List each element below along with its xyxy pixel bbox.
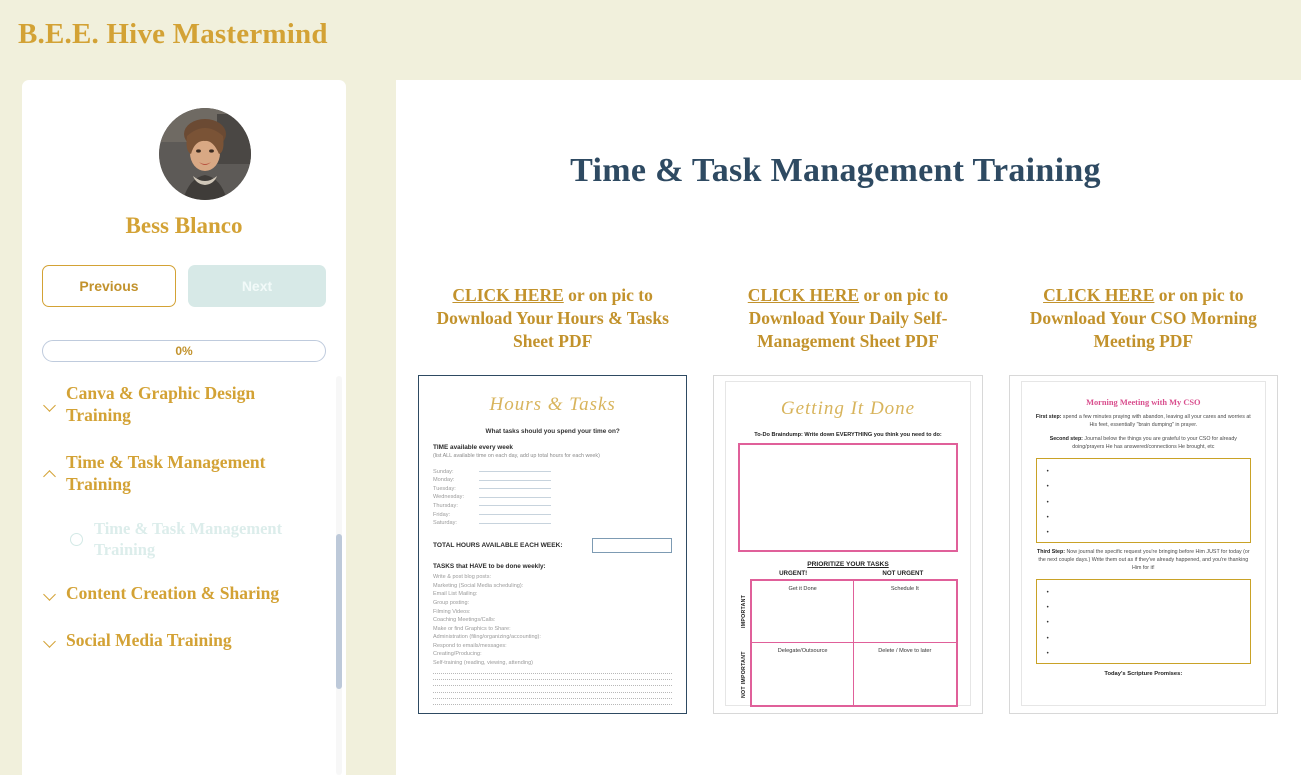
page-title: Time & Task Management Training [396,152,1275,190]
blank-line [433,698,672,699]
day-label: Monday: [433,477,479,483]
day-row: Saturday: [433,519,672,528]
matrix-col-header: NOT URGENT [848,570,958,579]
day-label: Tuesday: [433,486,479,492]
sheet-getting-it-done: Getting It Done To-Do Braindump: Write d… [725,381,970,706]
sidebar-scrollbar-thumb[interactable] [336,534,342,689]
day-label: Saturday: [433,520,479,526]
sidebar-item-label: Time & Task Management Training [66,451,308,496]
task-line: Administration (filing/organizing/accoun… [433,633,672,642]
tasks-heading: TASKS that HAVE to be done weekly: [433,563,672,570]
bullet-point: • [1047,616,1250,631]
sidebar-scrollbar-track[interactable] [336,376,342,775]
sidebar-subitem-label: Time & Task Management Training [94,518,308,561]
sheet-cso-morning-meeting: Morning Meeting with My CSO First step: … [1021,381,1266,706]
download-link-hours-and-tasks[interactable]: CLICK HERE or on pic to Download Your Ho… [418,284,687,353]
write-in-line [479,488,551,489]
first-step-label: First step: [1036,414,1062,420]
task-line: Email List Mailing: [433,590,672,599]
sheet-title: Hours & Tasks [433,394,672,416]
click-here-link-text[interactable]: CLICK HERE [452,285,563,305]
blank-line [433,673,672,674]
chevron-down-icon [44,587,57,600]
chevron-down-icon [44,398,57,411]
day-label: Friday: [433,512,479,518]
lesson-nav-buttons: Previous Next [42,265,326,307]
matrix-quadrant: Delegate/Outsource [752,643,854,705]
time-available-sub: (list ALL available time on each day, ad… [433,453,672,459]
chevron-up-icon [44,467,57,480]
bullet-point: • [1047,586,1250,601]
write-in-line [479,480,551,481]
sidebar-nav-list: Growing Your Community Canva & Graphic D… [22,376,322,663]
matrix-quadrant: Delete / Move to later [854,643,956,705]
matrix-quadrant: Schedule It [854,581,956,643]
first-step-text: First step: spend a few minutes praying … [1036,414,1251,430]
bullet-point: • [1047,511,1250,526]
third-step-label: Third Step: [1037,549,1065,555]
sidebar-item-social-media-training[interactable]: Social Media Training [22,617,322,663]
write-in-line [479,505,551,506]
day-row: Thursday: [433,502,672,511]
resource-card-daily-self-management: CLICK HERE or on pic to Download Your Da… [713,284,982,714]
site-title: B.E.E. Hive Mastermind [18,18,328,51]
sidebar-subitem-time-task-management-training[interactable]: Time & Task Management Training [22,508,322,571]
write-in-line [479,471,551,472]
lesson-incomplete-circle-icon [70,533,83,546]
download-link-cso-morning-meeting[interactable]: CLICK HERE or on pic to Download Your CS… [1009,284,1278,353]
progress-label: 0% [175,344,192,358]
matrix-row-header: IMPORTANT [738,579,750,643]
second-step-body: Journal below the things you are gratefu… [1072,436,1237,450]
sheet-hours-and-tasks: Hours & Tasks What tasks should you spen… [419,376,686,713]
main-content-panel: Time & Task Management Training CLICK HE… [396,80,1301,775]
sidebar-panel: Bess Blanco Previous Next 0% Growing You… [22,80,346,775]
day-row: Tuesday: [433,484,672,493]
day-label: Thursday: [433,503,479,509]
gratitude-journal-box: • • • • • [1036,458,1251,543]
day-row: Monday: [433,476,672,485]
next-button[interactable]: Next [188,265,326,307]
matrix-quadrant: Get it Done [752,581,854,643]
bullet-point: • [1047,647,1250,662]
write-in-line [479,497,551,498]
task-line: Self-training (reading, viewing, attendi… [433,659,672,668]
download-link-daily-self-management[interactable]: CLICK HERE or on pic to Download Your Da… [713,284,982,353]
sheet-title: Morning Meeting with My CSO [1036,398,1251,407]
bullet-point: • [1047,465,1250,480]
bullet-point: • [1047,632,1250,647]
first-step-body: spend a few minutes praying with abandon… [1061,414,1250,428]
day-row: Wednesday: [433,493,672,502]
blank-line [433,685,672,686]
bullet-point: • [1047,496,1250,511]
weekly-task-list: Write & post blog posts: Marketing (Soci… [433,573,672,667]
second-step-text: Second step: Journal below the things yo… [1036,436,1251,452]
day-label: Sunday: [433,469,479,475]
avatar [159,108,251,200]
third-step-text: Third Step: Now journal the specific req… [1036,549,1251,573]
sidebar-item-canva-graphic-design-training[interactable]: Canva & Graphic Design Training [22,376,322,439]
write-in-line [479,523,551,524]
sidebar-item-label: Content Creation & Sharing [66,582,279,604]
day-row: Friday: [433,510,672,519]
task-line: Creating/Producing: [433,650,672,659]
braindump-label: To-Do Braindump: Write down EVERYTHING y… [738,432,957,438]
sheet-question: What tasks should you spend your time on… [433,428,672,435]
pdf-thumbnail-cso-morning-meeting[interactable]: Morning Meeting with My CSO First step: … [1009,375,1278,714]
matrix-column-headers: URGENT! NOT URGENT [738,570,957,579]
total-hours-row: TOTAL HOURS AVAILABLE EACH WEEK: [433,538,672,553]
blank-write-in-lines [433,673,672,706]
blank-line [433,692,672,693]
task-line: Group posting: [433,599,672,608]
bullet-point: • [1047,601,1250,616]
sidebar-item-label: Canva & Graphic Design Training [66,382,308,427]
blank-line [433,704,672,705]
task-line: Coaching Meetings/Calls: [433,616,672,625]
click-here-link-text[interactable]: CLICK HERE [748,285,859,305]
third-step-body: Now journal the specific request you're … [1038,549,1249,571]
day-row: Sunday: [433,467,672,476]
task-line: Make or find Graphics to Share: [433,625,672,634]
sidebar-item-label: Social Media Training [66,629,232,651]
total-hours-box [592,538,672,553]
matrix-row-header: NOT IMPORTANT [738,643,750,707]
write-in-line [479,514,551,515]
resource-card-cso-morning-meeting: CLICK HERE or on pic to Download Your CS… [1009,284,1278,714]
priority-matrix: IMPORTANT NOT IMPORTANT Get it Done Sche… [738,579,957,707]
matrix-col-header: URGENT! [738,570,848,579]
progress-bar: 0% [42,340,326,362]
bullet-point: • [1047,480,1250,495]
second-step-label: Second step: [1050,436,1083,442]
prioritize-label: PRIORITIZE YOUR TASKS [738,561,957,568]
pdf-thumbnail-getting-it-done[interactable]: Getting It Done To-Do Braindump: Write d… [713,375,982,714]
time-available-heading: TIME available every week [433,444,672,451]
resource-card-hours-and-tasks: CLICK HERE or on pic to Download Your Ho… [418,284,687,714]
scripture-promises-label: Today's Scripture Promises: [1036,671,1251,677]
day-list: Sunday: Monday: Tuesday: Wednesday: Thur… [433,467,672,527]
matrix-grid: Get it Done Schedule It Delegate/Outsour… [750,579,957,707]
sheet-title: Getting It Done [738,398,957,420]
total-hours-label: TOTAL HOURS AVAILABLE EACH WEEK: [433,542,563,549]
sidebar-item-time-task-management-training[interactable]: Time & Task Management Training [22,439,322,508]
profile-name: Bess Blanco [22,213,346,239]
sidebar-nav-scroll-area: Growing Your Community Canva & Graphic D… [22,376,346,775]
braindump-box [738,443,957,552]
matrix-row-headers: IMPORTANT NOT IMPORTANT [738,579,750,707]
pdf-thumbnail-hours-and-tasks[interactable]: Hours & Tasks What tasks should you spen… [418,375,687,714]
click-here-link-text[interactable]: CLICK HERE [1043,285,1154,305]
task-line: Respond to emails/messages: [433,642,672,651]
sidebar-item-content-creation-sharing[interactable]: Content Creation & Sharing [22,570,322,616]
resource-card-list: CLICK HERE or on pic to Download Your Ho… [418,284,1278,714]
task-line: Filming Videos: [433,608,672,617]
previous-button[interactable]: Previous [42,265,176,307]
task-line: Marketing (Social Media scheduling): [433,582,672,591]
task-line: Write & post blog posts: [433,573,672,582]
chevron-down-icon [44,634,57,647]
day-label: Wednesday: [433,494,479,500]
requests-journal-box: • • • • • [1036,579,1251,664]
blank-line [433,679,672,680]
bullet-point: • [1047,526,1250,541]
